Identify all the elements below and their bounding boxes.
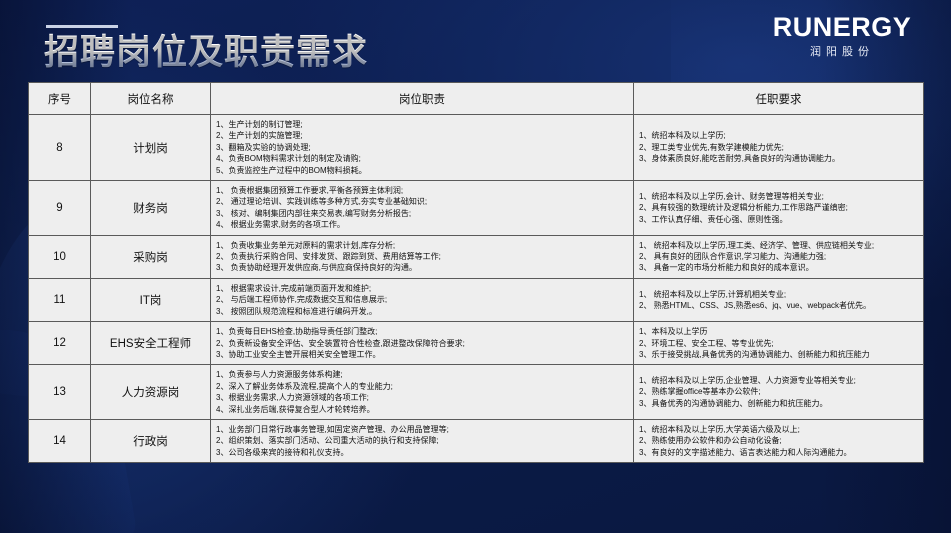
slide-header: 招聘岗位及职责需求 RUNERGY 润阳股份 <box>0 0 951 84</box>
list-item: 1、业务部门日常行政事务管理,如固定资产管理、办公用品管理等; <box>216 424 630 435</box>
list-item: 2、深入了解业务体系及流程,提高个人的专业能力; <box>216 381 630 392</box>
cell-job-title: EHS安全工程师 <box>91 322 211 365</box>
list-item: 1、生产计划的制订管理; <box>216 119 630 130</box>
cell-job-title: IT岗 <box>91 278 211 321</box>
list-item: 1、 负责收集业务单元对原料的需求计划,库存分析; <box>216 240 630 251</box>
list-item: 3、根据业务需求,人力资源领域的各项工作; <box>216 392 630 403</box>
title-accent-rule <box>46 25 118 28</box>
column-header-name: 岗位名称 <box>91 83 211 115</box>
list-item: 1、统招本科及以上学历,企业管理、人力资源专业等相关专业; <box>639 375 920 386</box>
list-item: 2、 具有良好的团队合作意识,学习能力、沟通能力强; <box>639 251 920 262</box>
list-item: 1、统招本科及以上学历; <box>639 130 920 141</box>
cell-job-requirements: 1、本科及以上学历2、环境工程、安全工程、等专业优先;3、乐于接受挑战,具备优秀… <box>634 322 924 365</box>
list-item: 1、 负责根据集团预算工作要求,平衡各预算主体利润; <box>216 185 630 196</box>
list-item: 3、翻箱及实验的协调处理; <box>216 142 630 153</box>
cell-serial-number: 11 <box>29 278 91 321</box>
list-item: 3、乐于接受挑战,具备优秀的沟通协调能力、创新能力和抗压能力 <box>639 349 920 360</box>
cell-job-duties: 1、生产计划的制订管理;2、生产计划的实施管理;3、翻箱及实验的协调处理;4、负… <box>211 115 634 181</box>
table-row: 12EHS安全工程师1、负责每日EHS检查,协助指导责任部门整改;2、负责新设备… <box>29 322 924 365</box>
cell-serial-number: 14 <box>29 419 91 462</box>
list-item: 3、有良好的文字描述能力、语言表达能力和人际沟通能力。 <box>639 447 920 458</box>
cell-serial-number: 10 <box>29 235 91 278</box>
cell-job-requirements: 1、统招本科及以上学历,大学英语六级及以上;2、熟练使用办公软件和办公自动化设备… <box>634 419 924 462</box>
column-header-req: 任职要求 <box>634 83 924 115</box>
table-header-row: 序号 岗位名称 岗位职责 任职要求 <box>29 83 924 115</box>
cell-job-requirements: 1、 统招本科及以上学历,计算机相关专业;2、 熟悉HTML、CSS、JS,熟悉… <box>634 278 924 321</box>
list-item: 2、环境工程、安全工程、等专业优先; <box>639 338 920 349</box>
list-item: 1、 根据需求设计,完成前端页面开发和维护; <box>216 283 630 294</box>
job-requirements-table: 序号 岗位名称 岗位职责 任职要求 8计划岗1、生产计划的制订管理;2、生产计划… <box>28 82 924 463</box>
list-item: 2、 与后端工程师协作,完成数据交互和信息展示; <box>216 294 630 305</box>
table-row: 9财务岗1、 负责根据集团预算工作要求,平衡各预算主体利润;2、 通过理论培训、… <box>29 181 924 236</box>
list-item: 3、公司各级来宾的接待和礼仪支持。 <box>216 447 630 458</box>
list-item: 3、 负责协助经理开发供应商,与供应商保持良好的沟通。 <box>216 262 630 273</box>
list-item: 2、熟练掌握office等基本办公软件; <box>639 386 920 397</box>
list-item: 2、负责新设备安全评估、安全装置符合性检查,跟进整改保障符合要求; <box>216 338 630 349</box>
list-item: 1、统招本科及以上学历,会计、财务管理等相关专业; <box>639 191 920 202</box>
logo-subtitle: 润阳股份 <box>747 45 937 59</box>
page-title: 招聘岗位及职责需求 <box>44 30 368 76</box>
list-item: 1、负责每日EHS检查,协助指导责任部门整改; <box>216 326 630 337</box>
column-header-duty: 岗位职责 <box>211 83 634 115</box>
list-item: 3、 核对、编制集团内部往来交易表,编写财务分析报告; <box>216 208 630 219</box>
cell-job-duties: 1、负责参与人力资源服务体系构建;2、深入了解业务体系及流程,提高个人的专业能力… <box>211 365 634 420</box>
table-header: 序号 岗位名称 岗位职责 任职要求 <box>29 83 924 115</box>
cell-job-requirements: 1、统招本科及以上学历;2、理工类专业优先,有数学建模能力优先;3、身体素质良好… <box>634 115 924 181</box>
table-row: 8计划岗1、生产计划的制订管理;2、生产计划的实施管理;3、翻箱及实验的协调处理… <box>29 115 924 181</box>
list-item: 4、深扎业务后端,获得复合型人才轮转培养。 <box>216 404 630 415</box>
list-item: 1、 统招本科及以上学历,计算机相关专业; <box>639 289 920 300</box>
list-item: 2、具有较强的数理统计及逻辑分析能力,工作思路严谨缜密; <box>639 202 920 213</box>
cell-job-title: 计划岗 <box>91 115 211 181</box>
cell-job-title: 人力资源岗 <box>91 365 211 420</box>
cell-job-duties: 1、 负责根据集团预算工作要求,平衡各预算主体利润;2、 通过理论培训、实践训练… <box>211 181 634 236</box>
list-item: 1、负责参与人力资源服务体系构建; <box>216 369 630 380</box>
list-item: 3、身体素质良好,能吃苦耐劳,具备良好的沟通协调能力。 <box>639 153 920 164</box>
logo-wordmark: RUNERGY <box>747 12 937 42</box>
cell-job-duties: 1、负责每日EHS检查,协助指导责任部门整改;2、负责新设备安全评估、安全装置符… <box>211 322 634 365</box>
cell-job-duties: 1、 负责收集业务单元对原料的需求计划,库存分析;2、 负责执行采购合同、安排发… <box>211 235 634 278</box>
table-row: 11IT岗1、 根据需求设计,完成前端页面开发和维护;2、 与后端工程师协作,完… <box>29 278 924 321</box>
cell-job-requirements: 1、 统招本科及以上学历,理工类、经济学、管理、供应链相关专业;2、 具有良好的… <box>634 235 924 278</box>
cell-job-title: 采购岗 <box>91 235 211 278</box>
list-item: 3、工作认真仔细、责任心强、原则性强。 <box>639 214 920 225</box>
list-item: 3、 按照团队规范流程和标准进行编码开发,。 <box>216 306 630 317</box>
table-row: 13人力资源岗1、负责参与人力资源服务体系构建;2、深入了解业务体系及流程,提高… <box>29 365 924 420</box>
company-logo: RUNERGY 润阳股份 <box>747 12 937 59</box>
list-item: 2、熟练使用办公软件和办公自动化设备; <box>639 435 920 446</box>
table-body: 8计划岗1、生产计划的制订管理;2、生产计划的实施管理;3、翻箱及实验的协调处理… <box>29 115 924 463</box>
cell-job-title: 财务岗 <box>91 181 211 236</box>
list-item: 2、 负责执行采购合同、安排发货、跟踪到货、费用结算等工作; <box>216 251 630 262</box>
slide-canvas: 招聘岗位及职责需求 RUNERGY 润阳股份 序号 岗位名称 岗位职责 任职要求… <box>0 0 951 533</box>
cell-job-requirements: 1、统招本科及以上学历,会计、财务管理等相关专业;2、具有较强的数理统计及逻辑分… <box>634 181 924 236</box>
cell-serial-number: 8 <box>29 115 91 181</box>
list-item: 5、负责监控生产过程中的BOM物料损耗。 <box>216 165 630 176</box>
cell-job-title: 行政岗 <box>91 419 211 462</box>
cell-serial-number: 12 <box>29 322 91 365</box>
list-item: 3、具备优秀的沟通协调能力、创新能力和抗压能力。 <box>639 398 920 409</box>
table-row: 14行政岗1、业务部门日常行政事务管理,如固定资产管理、办公用品管理等;2、组织… <box>29 419 924 462</box>
list-item: 1、本科及以上学历 <box>639 326 920 337</box>
list-item: 3、 具备一定的市场分析能力和良好的成本意识。 <box>639 262 920 273</box>
list-item: 3、协助工业安全主管开展相关安全管理工作。 <box>216 349 630 360</box>
list-item: 4、负责BOM物料需求计划的制定及请购; <box>216 153 630 164</box>
list-item: 2、理工类专业优先,有数学建模能力优先; <box>639 142 920 153</box>
table-row: 10采购岗1、 负责收集业务单元对原料的需求计划,库存分析;2、 负责执行采购合… <box>29 235 924 278</box>
list-item: 1、 统招本科及以上学历,理工类、经济学、管理、供应链相关专业; <box>639 240 920 251</box>
list-item: 2、组织策划、落实部门活动、公司重大活动的执行和支持保障; <box>216 435 630 446</box>
cell-job-duties: 1、 根据需求设计,完成前端页面开发和维护;2、 与后端工程师协作,完成数据交互… <box>211 278 634 321</box>
list-item: 2、 熟悉HTML、CSS、JS,熟悉es6、jq、vue、webpack者优先… <box>639 300 920 311</box>
list-item: 2、生产计划的实施管理; <box>216 130 630 141</box>
column-header-no: 序号 <box>29 83 91 115</box>
cell-serial-number: 13 <box>29 365 91 420</box>
cell-job-duties: 1、业务部门日常行政事务管理,如固定资产管理、办公用品管理等;2、组织策划、落实… <box>211 419 634 462</box>
list-item: 4、 根据业务需求,财务的各项工作。 <box>216 219 630 230</box>
cell-serial-number: 9 <box>29 181 91 236</box>
list-item: 1、统招本科及以上学历,大学英语六级及以上; <box>639 424 920 435</box>
list-item: 2、 通过理论培训、实践训练等多种方式,夯实专业基础知识; <box>216 196 630 207</box>
cell-job-requirements: 1、统招本科及以上学历,企业管理、人力资源专业等相关专业;2、熟练掌握offic… <box>634 365 924 420</box>
